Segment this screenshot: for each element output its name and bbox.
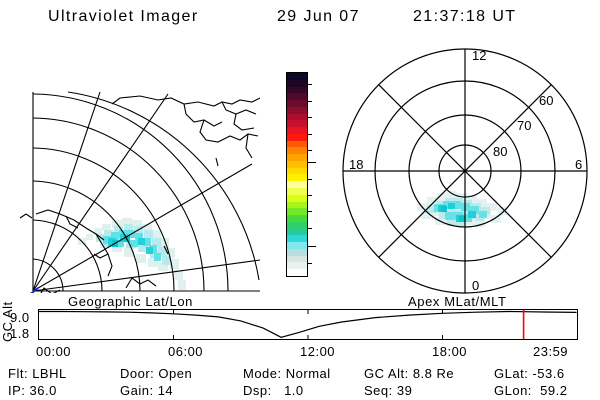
orbit-ytick-high: 9.0	[10, 310, 30, 325]
status-mode: Mode: Normal	[243, 366, 331, 381]
colorbar-band-16	[287, 181, 307, 188]
colorbar-minor-tick-0	[308, 84, 312, 85]
colorbar-band-28	[287, 262, 307, 269]
colorbar-minor-tick-1	[308, 101, 312, 102]
colorbar-band-9	[287, 134, 307, 141]
mlt-label-0: 0	[472, 278, 479, 293]
colorbar-band-29	[287, 269, 307, 276]
colorbar-band-2	[287, 87, 307, 94]
observation-time: 21:37:18 UT	[413, 8, 516, 26]
orbit-xtick-1: 06:00	[168, 344, 203, 359]
colorbar-minor-tick-2	[308, 117, 312, 118]
colorbar-band-10	[287, 141, 307, 148]
colorbar-band-11	[287, 147, 307, 154]
orbit-ytick-low: 1.8	[10, 326, 30, 341]
mlt-label-12: 12	[472, 48, 486, 63]
orbit-xtick-3: 18:00	[432, 344, 467, 359]
colorbar-band-4	[287, 100, 307, 107]
colorbar-band-27	[287, 256, 307, 263]
colorbar-gradient	[286, 72, 308, 277]
status-seq: Seq: 39	[364, 383, 412, 398]
mlt-label-18: 18	[349, 157, 363, 172]
orbit-xtick-0: 00:00	[36, 344, 71, 359]
magnetic-dial-svg: 12 18 6 0 60 70 80	[335, 45, 593, 295]
mlat-label-80: 80	[493, 144, 507, 159]
colorbar-band-15	[287, 174, 307, 181]
colorbar-band-19	[287, 202, 307, 209]
colorbar-band-3	[287, 93, 307, 100]
status-flt: Flt: LBHL	[8, 366, 67, 381]
colorbar-band-13	[287, 161, 307, 168]
status-door: Door: Open	[120, 366, 192, 381]
colorbar-ticks: 10010	[308, 72, 316, 277]
status-gain: Gain: 14	[120, 383, 173, 398]
colorbar-band-0	[287, 73, 307, 80]
colorbar-band-5	[287, 107, 307, 114]
magnetic-panel-caption: Apex MLat/MLT	[408, 294, 507, 309]
status-dsp: Dsp: 1.0	[243, 383, 304, 398]
status-footer: Flt: LBHL IP: 36.0 Door: Open Gain: 14 M…	[0, 366, 600, 400]
colorbar-minor-tick-9	[308, 263, 312, 264]
magnetic-dial-panel[interactable]: 12 18 6 0 60 70 80	[335, 45, 593, 295]
header-bar: Ultraviolet Imager 29 Jun 07 21:37:18 UT	[0, 6, 600, 32]
colorbar-band-18	[287, 195, 307, 202]
observation-date: 29 Jun 07	[277, 8, 360, 26]
colorbar-major-tick-0	[308, 162, 316, 163]
colorbar-band-12	[287, 154, 307, 161]
colorbar-band-24	[287, 235, 307, 242]
colorbar-band-26	[287, 249, 307, 256]
colorbar-band-1	[287, 80, 307, 87]
colorbar-minor-tick-4	[308, 150, 312, 151]
colorbar-minor-tick-5	[308, 179, 312, 180]
orbit-altitude-curve	[39, 310, 577, 339]
colorbar-band-22	[287, 222, 307, 229]
mlat-label-60: 60	[539, 93, 553, 108]
colorbar-major-tick-1	[308, 246, 316, 247]
colorbar-band-20	[287, 208, 307, 215]
colorbar-band-21	[287, 215, 307, 222]
mlt-spokes	[343, 49, 587, 293]
geographic-image-panel[interactable]	[8, 48, 260, 293]
status-glat: GLat: -53.6	[494, 366, 565, 381]
colorbar-minor-tick-8	[308, 228, 312, 229]
colorbar-minor-tick-7	[308, 211, 312, 212]
status-gcalt: GC Alt: 8.8 Re	[364, 366, 454, 381]
mlt-label-6: 6	[575, 157, 582, 172]
orbit-xtick-4: 23:59	[533, 344, 568, 359]
geographic-panel-caption: Geographic Lat/Lon	[68, 294, 193, 309]
instrument-title: Ultraviolet Imager	[48, 8, 199, 26]
status-ip: IP: 36.0	[8, 383, 57, 398]
intensity-colorbar: photon cm-2s-1 10010	[262, 55, 332, 295]
orbit-altitude-plot[interactable]	[38, 309, 578, 340]
colorbar-minor-tick-3	[308, 134, 312, 135]
orbit-xtick-2: 12:00	[300, 344, 335, 359]
colorbar-minor-tick-6	[308, 195, 312, 196]
colorbar-band-6	[287, 114, 307, 121]
colorbar-band-17	[287, 188, 307, 195]
colorbar-band-25	[287, 242, 307, 249]
colorbar-band-8	[287, 127, 307, 134]
colorbar-band-7	[287, 120, 307, 127]
status-glon: GLon: 59.2	[494, 383, 567, 398]
colorbar-axis-title: photon cm-2s-1	[260, 71, 278, 276]
geographic-map-svg	[8, 48, 260, 293]
colorbar-band-14	[287, 168, 307, 175]
colorbar-band-23	[287, 229, 307, 236]
mlat-label-70: 70	[517, 118, 531, 133]
